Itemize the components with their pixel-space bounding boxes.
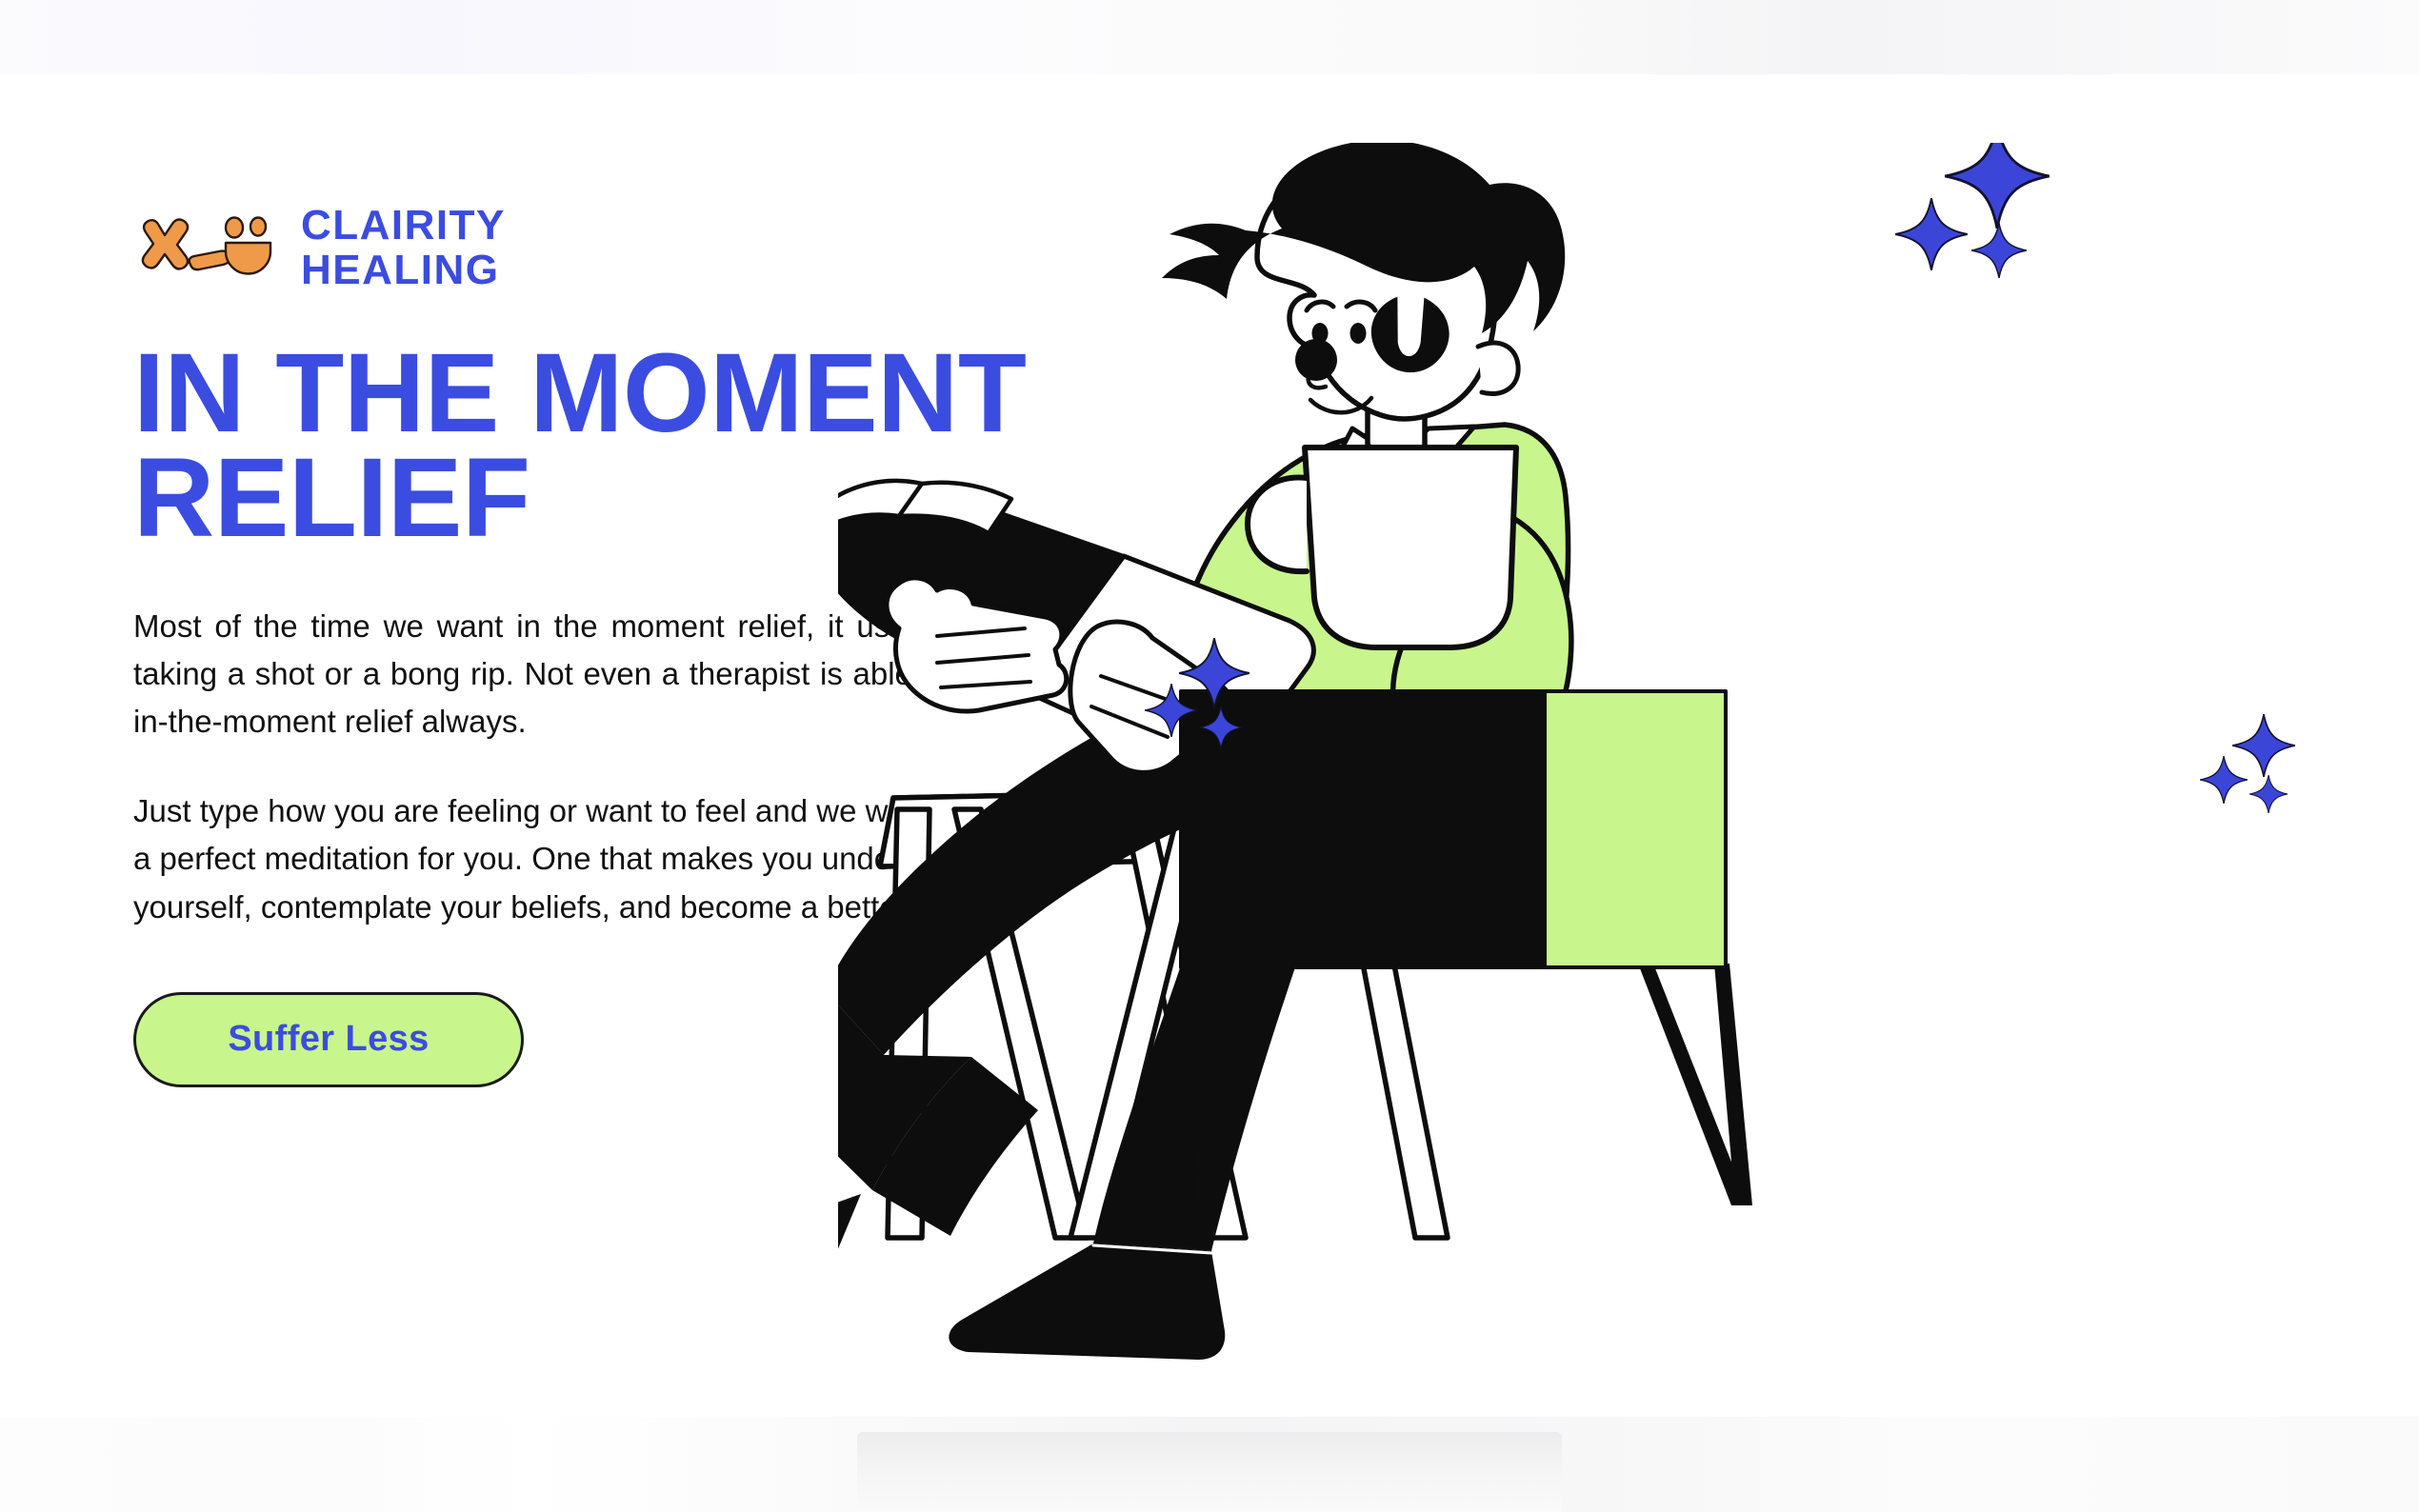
bottom-ambient-band <box>0 1417 2419 1512</box>
hero-illustration <box>838 143 2324 1409</box>
top-ambient-band <box>0 0 2419 74</box>
emoticon-face-logo-icon <box>133 211 274 286</box>
brand-name-text: CLAIRITY HEALING <box>301 204 506 292</box>
suffer-less-button[interactable]: Suffer Less <box>133 992 524 1087</box>
landing-page: CLAIRITY HEALING IN THE MOMENT RELIEF Mo… <box>0 0 2419 1512</box>
